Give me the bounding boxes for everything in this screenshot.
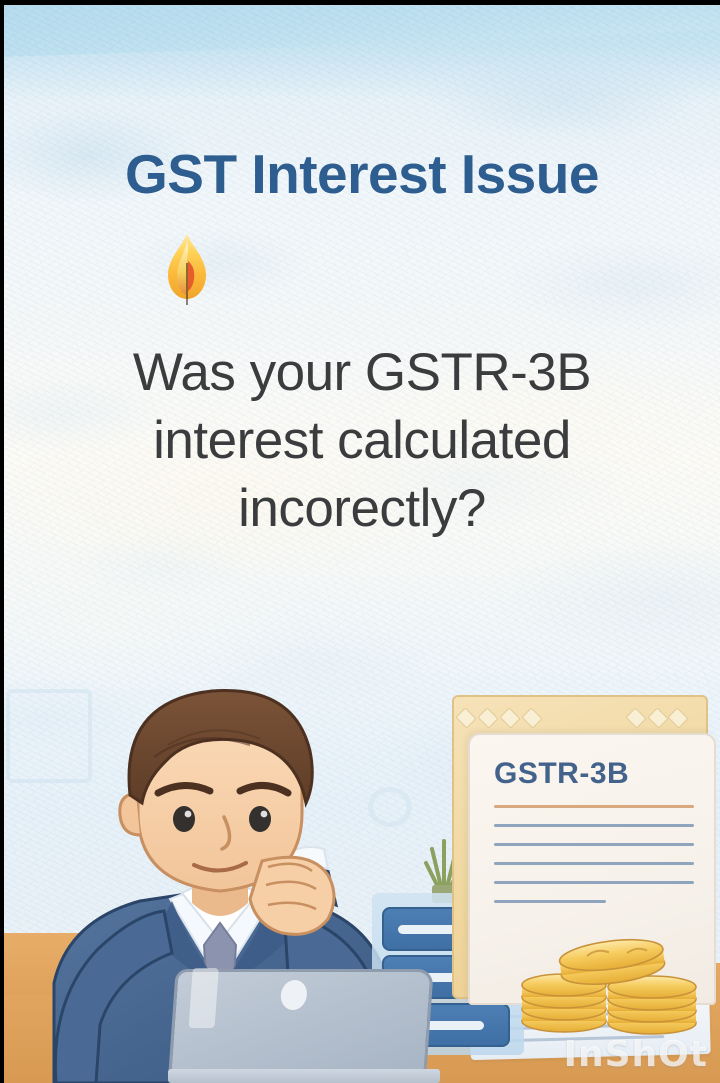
headline-container: GST Interest Issue	[4, 147, 720, 202]
folder-dot	[667, 707, 688, 728]
document-text-line	[494, 900, 606, 903]
folder-dot	[477, 707, 498, 728]
document-text-line	[494, 824, 694, 827]
wall-picture-frame-decor	[6, 689, 92, 783]
document-text-line	[494, 881, 694, 884]
emoji-container	[4, 233, 720, 310]
gold-coin-stacks	[516, 925, 706, 1035]
folder-dot	[521, 707, 542, 728]
laptop-logo-icon	[280, 980, 308, 1010]
laptop-highlight	[189, 968, 219, 1028]
folder-dot	[455, 707, 476, 728]
poster-canvas: GST Interest Issue	[4, 5, 720, 1083]
wall-circle-decor	[368, 787, 412, 827]
inshot-watermark: InShOt	[564, 1034, 708, 1075]
laptop-lid	[168, 969, 433, 1075]
page-title: GST Interest Issue	[4, 147, 720, 202]
document-text-line	[494, 862, 694, 865]
document-title: GSTR-3B	[494, 757, 694, 791]
folder-dot	[625, 707, 646, 728]
folder-dot	[647, 707, 668, 728]
poster-frame: GST Interest Issue	[0, 0, 720, 1083]
subheadline-container: Was your GSTR-3B interest calculated inc…	[4, 339, 720, 542]
folder-dot	[499, 707, 520, 728]
folder-dot-row	[452, 707, 684, 727]
laptop	[172, 963, 442, 1083]
fire-emoji-icon	[164, 233, 210, 305]
document-accent-rule	[494, 805, 694, 808]
document-text-line	[494, 843, 694, 846]
question-text: Was your GSTR-3B interest calculated inc…	[44, 339, 680, 542]
illustration-scene: GSTR-3B	[4, 613, 720, 1083]
laptop-base	[168, 1069, 440, 1083]
